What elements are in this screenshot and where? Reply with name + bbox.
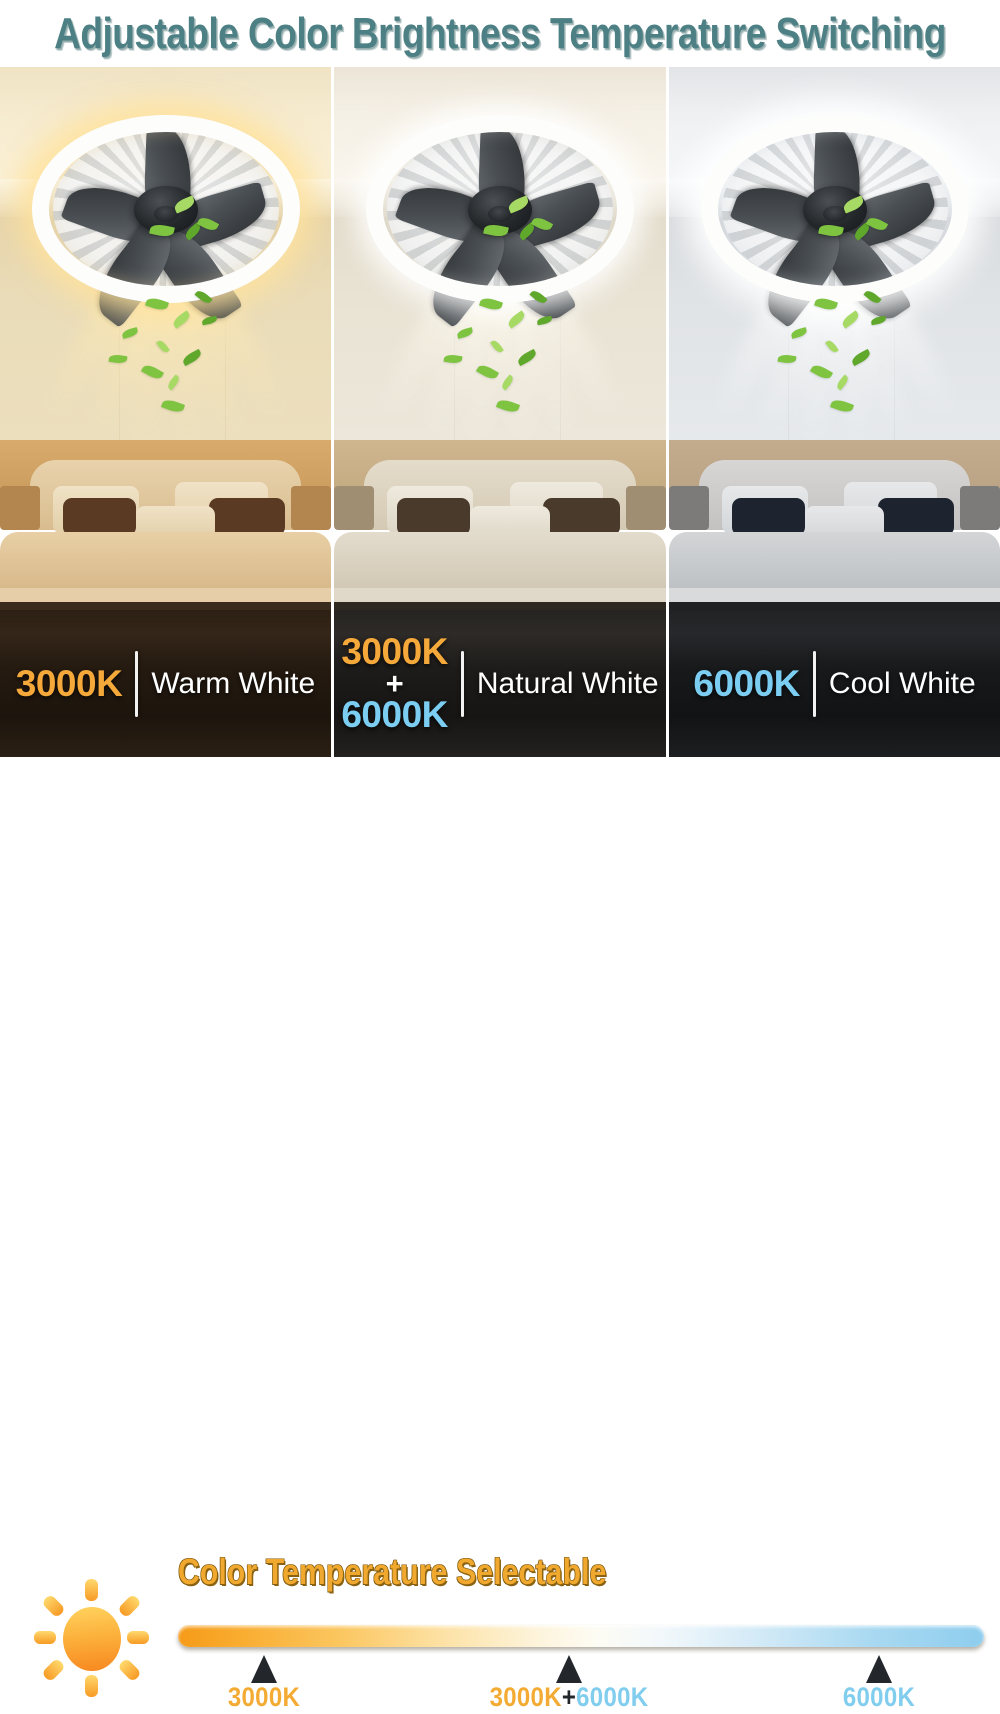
label-divider: [135, 651, 138, 717]
bed-base: [334, 602, 666, 610]
label-divider: [461, 651, 464, 717]
temperature-gradient-bar[interactable]: [178, 1625, 984, 1647]
room-scene-natural: [334, 67, 666, 440]
kelvin-value-warm: 3000K: [16, 665, 123, 703]
page-title: Adjustable Color Brightness Temperature …: [54, 9, 946, 59]
nightstand-right: [626, 486, 666, 530]
bed-base: [669, 602, 1000, 610]
tick-label-3000k-6000k: 3000K+6000K: [490, 1682, 649, 1713]
nightstand-right: [291, 486, 331, 530]
pillow-check: [63, 498, 136, 536]
marker-3000k: [251, 1655, 277, 1683]
header-banner: Adjustable Color Brightness Temperature …: [0, 0, 1000, 67]
nightstand-left: [669, 486, 709, 530]
ceiling-fan-light-cool: [701, 115, 969, 303]
color-temperature-selector: Color Temperature Selectable 3000K 3000K…: [0, 757, 1000, 953]
tick-label-6000k: 6000K: [843, 1682, 915, 1713]
panel-natural-white: 3000K + 6000K Natural White: [331, 67, 669, 757]
bed-scene-natural: [334, 440, 666, 610]
pillow-check: [878, 498, 954, 536]
label-divider: [813, 651, 816, 717]
led-ring: [701, 115, 969, 303]
bed-base: [0, 602, 331, 610]
pillow-check: [732, 498, 805, 536]
product-infographic: Adjustable Color Brightness Temperature …: [0, 0, 1000, 953]
nightstand-left: [334, 486, 374, 530]
label-bar-cool: 6000K Cool White: [669, 610, 1000, 757]
ceiling-fan-light-natural: [366, 115, 634, 303]
pillow-check: [209, 498, 285, 536]
white-name-natural: Natural White: [477, 667, 659, 701]
label-bar-natural: 3000K + 6000K Natural White: [334, 610, 666, 757]
room-scene-cool: [669, 67, 1000, 440]
tick-label-3000k: 3000K: [228, 1682, 300, 1713]
room-scene-warm: [0, 67, 331, 440]
bed-scene-warm: [0, 440, 331, 610]
selector-title: Color Temperature Selectable: [178, 1553, 607, 1594]
marker-3000k-6000k: [556, 1655, 582, 1683]
marker-6000k: [866, 1655, 892, 1683]
bed-scene-cool: [669, 440, 1000, 610]
sun-icon: [32, 1579, 150, 1697]
sun-core: [63, 1607, 121, 1671]
white-name-cool: Cool White: [829, 667, 976, 701]
nightstand-right: [960, 486, 1000, 530]
ceiling-fan-light-warm: [32, 115, 300, 303]
pillow-check: [397, 498, 470, 536]
label-bar-warm: 3000K Warm White: [0, 610, 331, 757]
white-name-warm: Warm White: [151, 667, 315, 701]
kelvin-cool-line: 6000K: [341, 696, 448, 734]
kelvin-value-cool: 6000K: [693, 665, 800, 703]
pillow-check: [543, 498, 619, 536]
nightstand-left: [0, 486, 40, 530]
comparison-panels: 3000K Warm White: [0, 67, 1000, 757]
kelvin-value-mixed: 3000K + 6000K: [341, 633, 448, 733]
led-ring: [366, 115, 634, 303]
panel-warm-white: 3000K Warm White: [0, 67, 331, 757]
panel-cool-white: 6000K Cool White: [669, 67, 1000, 757]
led-ring: [32, 115, 300, 303]
